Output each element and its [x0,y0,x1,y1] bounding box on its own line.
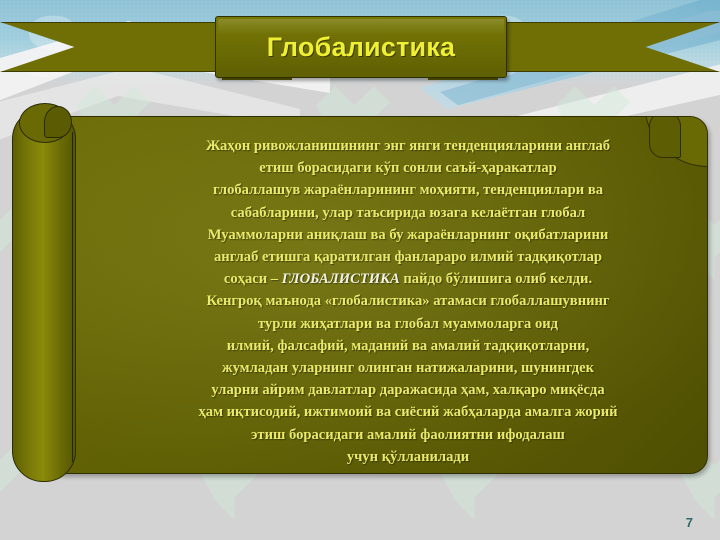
emphasis-suffix: пайдо бўлишига олиб келди. [400,271,592,287]
title-plate: Глобалистика [215,16,507,78]
ribbon-tail-right [472,22,720,72]
page-number: 7 [686,515,693,530]
emphasis-term: ГЛОБАЛИСТИКА [282,271,400,287]
body-line: сабабларини, улар таъсирида юзага келаёт… [115,202,701,224]
content-scroll: Жаҳон ривожланишининг энг янги тенденция… [12,116,708,484]
body-line: етиш борасидаги кўп сонли саъй-ҳаракатла… [115,157,701,179]
body-line: уларни айрим давлатлар даражасида ҳам, х… [115,379,701,401]
body-line: жумладан уларнинг олинган натижаларини, … [115,357,701,379]
scroll-roll-seam [72,132,73,462]
scroll-sheet: Жаҳон ривожланишининг энг янги тенденция… [44,116,708,474]
title-ribbon: Глобалистика [0,22,720,78]
slide-title: Глобалистика [267,32,455,63]
body-line: англаб етишга қаратилган фанлараро илмий… [115,246,701,268]
body-line: Кенгроқ маънода «глобалистика» атамаси г… [115,290,701,312]
body-line: Муаммоларни аниқлаш ва бу жараёнларнинг … [115,224,701,246]
scroll-roll-left [12,108,76,482]
scroll-roll-cap-inner [44,106,72,138]
body-line: этиш борасидаги амалий фаолиятни ифодала… [115,424,701,446]
body-line-emphasis: соҳаси – ГЛОБАЛИСТИКА пайдо бўлишига оли… [115,268,701,290]
scroll-roll-cap [19,103,71,143]
body-line: ҳам иқтисодий, ижтимоий ва сиёсий жабҳал… [115,401,701,423]
body-line: илмий, фалсафий, маданий ва амалий тадқи… [115,335,701,357]
emphasis-prefix: соҳаси – [224,271,282,287]
ribbon-tail-left [0,22,248,72]
body-line: Жаҳон ривожланишининг энг янги тенденция… [115,135,701,157]
body-line: турли жиҳатлари ва глобал муаммоларга ои… [115,313,701,335]
body-text-block: Жаҳон ривожланишининг энг янги тенденция… [115,135,701,468]
body-line: глобаллашув жараёнларининг моҳияти, тенд… [115,179,701,201]
slide-canvas: S S S S S S Глобалистика Жаҳон ривожлани… [0,0,720,540]
body-line: учун қўлланилади [115,446,701,468]
